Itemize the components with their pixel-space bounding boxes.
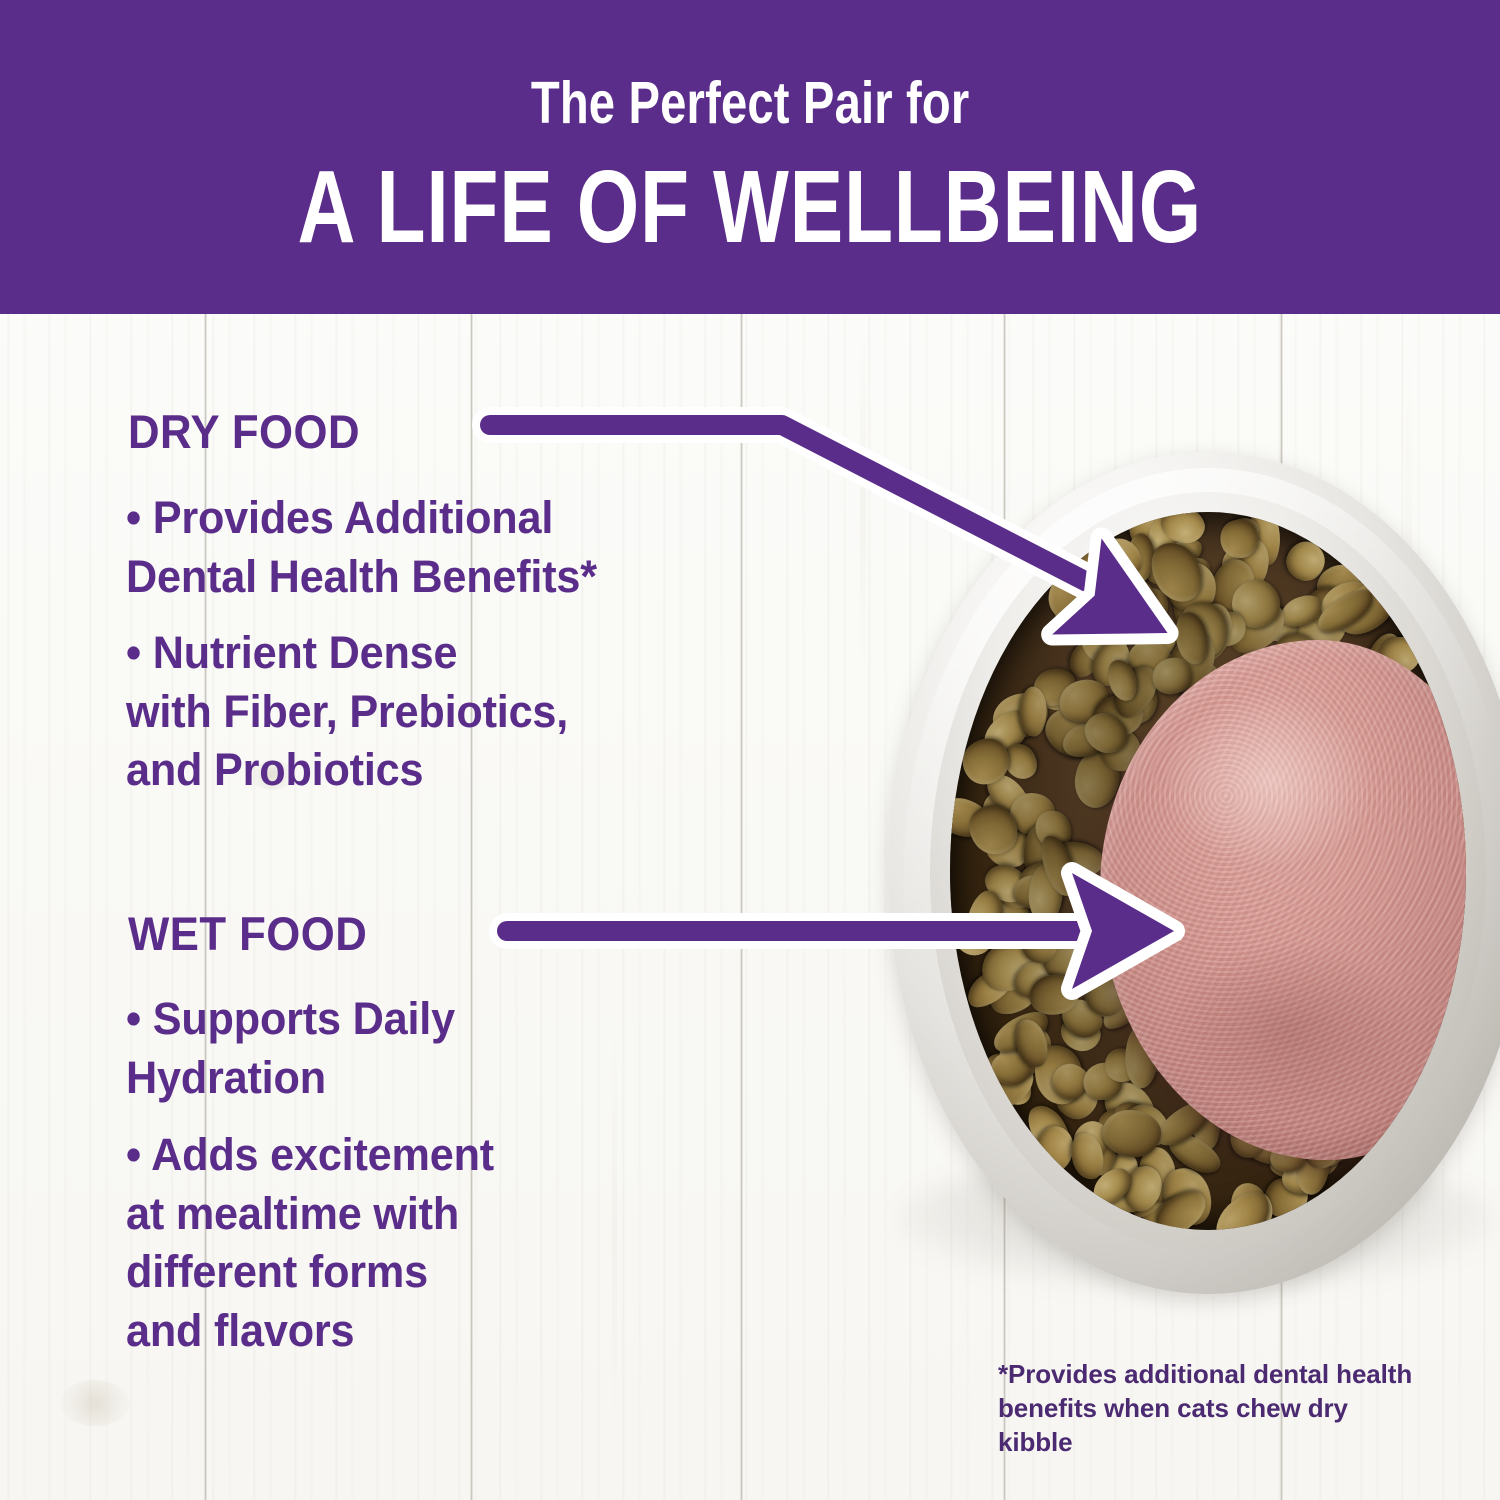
pate-shadow <box>1167 942 1411 1119</box>
header-banner: The Perfect Pair for A LIFE OF WELLBEING <box>0 0 1500 314</box>
dry-food-bullet-1: • Provides Additional Dental Health Bene… <box>126 489 760 606</box>
wet-food-bullet-2: • Adds excitement at mealtime with diffe… <box>126 1126 664 1360</box>
poster-root: The Perfect Pair for A LIFE OF WELLBEING… <box>0 0 1500 1500</box>
dry-food-bullet-2: • Nutrient Dense with Fiber, Prebiotics,… <box>126 624 760 800</box>
header-title: A LIFE OF WELLBEING <box>298 155 1202 258</box>
copy-column: DRY FOOD • Provides Additional Dental He… <box>0 314 830 1500</box>
footnote-text: *Provides additional dental health benef… <box>998 1358 1418 1459</box>
wet-food-pate <box>1100 640 1466 1160</box>
wet-food-bullet-1: • Supports Daily Hydration <box>126 990 664 1107</box>
pet-food-bowl-photo <box>888 452 1500 1312</box>
section-heading-dry-food: DRY FOOD <box>128 404 360 459</box>
kibble-piece <box>1019 686 1047 736</box>
bowl-outer-rim <box>888 452 1500 1294</box>
pate-highlight <box>1159 692 1377 869</box>
section-heading-wet-food: WET FOOD <box>128 906 367 961</box>
bowl-well <box>950 512 1466 1230</box>
header-subtitle: The Perfect Pair for <box>531 74 970 133</box>
